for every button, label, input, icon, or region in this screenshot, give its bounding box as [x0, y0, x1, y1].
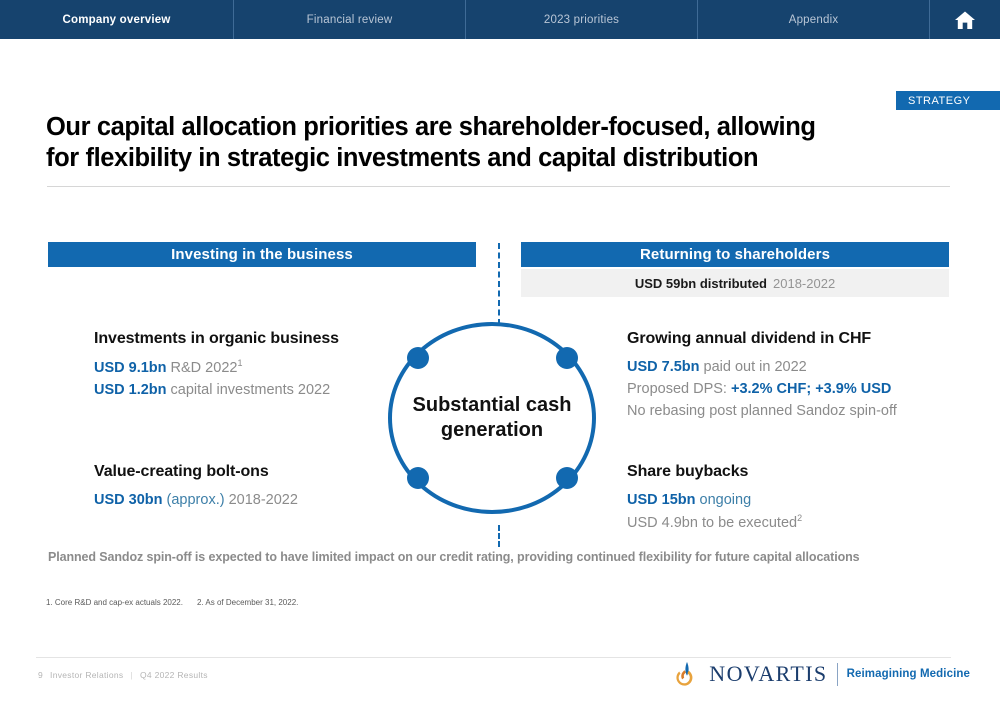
novartis-flame-icon: [674, 660, 700, 688]
title-divider: [47, 186, 950, 187]
amount-capital-desc: capital investments 2022: [167, 382, 331, 398]
circle-node-bottom-left: [407, 467, 429, 489]
tab-2023-priorities[interactable]: 2023 priorities: [466, 0, 698, 39]
amount-rd: USD 9.1bn: [94, 360, 167, 376]
tab-label: Appendix: [789, 14, 839, 26]
amount-buyback-status: ongoing: [696, 492, 752, 508]
block-line-capital: USD 1.2bn capital investments 2022: [94, 380, 414, 400]
footer-deck-name: Q4 2022 Results: [140, 670, 208, 680]
page-title-line2: for flexibility in strategic investments…: [46, 143, 946, 174]
novartis-logo: NOVARTIS Reimagining Medicine: [674, 660, 970, 688]
proposed-dps-label: Proposed DPS:: [627, 381, 731, 397]
footer-separator: |: [130, 670, 133, 680]
footer-department: Investor Relations: [50, 670, 123, 680]
block-investments-organic-business: Investments in organic business USD 9.1b…: [94, 330, 414, 402]
distributed-amount: USD 59bn distributed: [635, 276, 767, 291]
distributed-period: 2018-2022: [773, 276, 835, 291]
distributed-summary-bar: USD 59bn distributed 2018-2022: [521, 269, 949, 297]
tab-label: Financial review: [307, 14, 393, 26]
novartis-wordmark: NOVARTIS: [709, 661, 827, 687]
amount-remaining: USD 4.9bn to be executed: [627, 515, 797, 531]
amount-rd-desc: R&D 2022: [167, 360, 238, 376]
circle-node-top-left: [407, 347, 429, 369]
page-title: Our capital allocation priorities are sh…: [46, 112, 946, 174]
block-heading: Investments in organic business: [94, 330, 414, 348]
amount-dividend-desc: paid out in 2022: [700, 359, 807, 375]
column-header-label: Investing in the business: [171, 246, 353, 263]
block-line-boltons: USD 30bn (approx.) 2018-2022: [94, 490, 414, 510]
column-header-label: Returning to shareholders: [640, 246, 830, 263]
footnote-marker-2: 2: [797, 513, 802, 523]
home-icon: [954, 10, 976, 30]
amount-boltons: USD 30bn: [94, 492, 163, 508]
block-line-ongoing: USD 15bn ongoing: [627, 490, 957, 510]
home-button[interactable]: [930, 0, 1000, 39]
vertical-dashed-divider-bottom: [498, 525, 500, 547]
block-line-paid-out: USD 7.5bn paid out in 2022: [627, 357, 957, 377]
central-circle-diagram: Substantial cash generation: [388, 322, 610, 528]
block-heading: Growing annual dividend in CHF: [627, 330, 957, 348]
footnotes: 1. Core R&D and cap-ex actuals 2022.2. A…: [46, 598, 298, 607]
circle-node-bottom-right: [556, 467, 578, 489]
column-header-returning: Returning to shareholders: [521, 242, 949, 267]
column-header-investing: Investing in the business: [48, 242, 476, 267]
logo-divider: [837, 663, 838, 686]
amount-boltons-approx: (approx.): [163, 492, 225, 508]
block-line-proposed-dps: Proposed DPS: +3.2% CHF; +3.9% USD: [627, 379, 957, 399]
tab-label: Company overview: [62, 14, 170, 26]
tab-financial-review[interactable]: Financial review: [234, 0, 466, 39]
block-heading: Value-creating bolt-ons: [94, 463, 414, 481]
page-number: 9: [38, 670, 43, 680]
amount-buyback: USD 15bn: [627, 492, 696, 508]
tab-label: 2023 priorities: [544, 14, 619, 26]
block-line-rd: USD 9.1bn R&D 20221: [94, 357, 414, 378]
block-value-creating-bolt-ons: Value-creating bolt-ons USD 30bn (approx…: [94, 463, 414, 512]
footer-page-meta: 9 Investor Relations | Q4 2022 Results: [38, 670, 208, 680]
block-growing-annual-dividend: Growing annual dividend in CHF USD 7.5bn…: [627, 330, 957, 423]
amount-boltons-period: 2018-2022: [225, 492, 298, 508]
block-line-to-be-executed: USD 4.9bn to be executed2: [627, 512, 957, 533]
footnote-marker-1: 1: [237, 358, 242, 368]
block-heading: Share buybacks: [627, 463, 957, 481]
vertical-dashed-divider-top: [498, 243, 500, 325]
proposed-dps-values: +3.2% CHF; +3.9% USD: [731, 381, 891, 397]
callout-sandoz-spinoff: Planned Sandoz spin-off is expected to h…: [48, 550, 953, 564]
footer-divider: [36, 657, 951, 658]
tab-company-overview[interactable]: Company overview: [0, 0, 234, 39]
block-share-buybacks: Share buybacks USD 15bn ongoing USD 4.9b…: [627, 463, 957, 535]
block-line-no-rebasing: No rebasing post planned Sandoz spin-off: [627, 401, 957, 421]
amount-dividend: USD 7.5bn: [627, 359, 700, 375]
tab-appendix[interactable]: Appendix: [698, 0, 930, 39]
page-title-line1: Our capital allocation priorities are sh…: [46, 112, 946, 143]
circle-node-top-right: [556, 347, 578, 369]
novartis-tagline: Reimagining Medicine: [847, 668, 970, 680]
top-navigation-bar: Company overview Financial review 2023 p…: [0, 0, 1000, 39]
footnote-2: 2. As of December 31, 2022.: [197, 598, 298, 607]
amount-capital: USD 1.2bn: [94, 382, 167, 398]
badge-label: STRATEGY: [908, 95, 970, 107]
footnote-1: 1. Core R&D and cap-ex actuals 2022.: [46, 598, 183, 607]
status-badge-strategy: STRATEGY: [896, 91, 1000, 110]
